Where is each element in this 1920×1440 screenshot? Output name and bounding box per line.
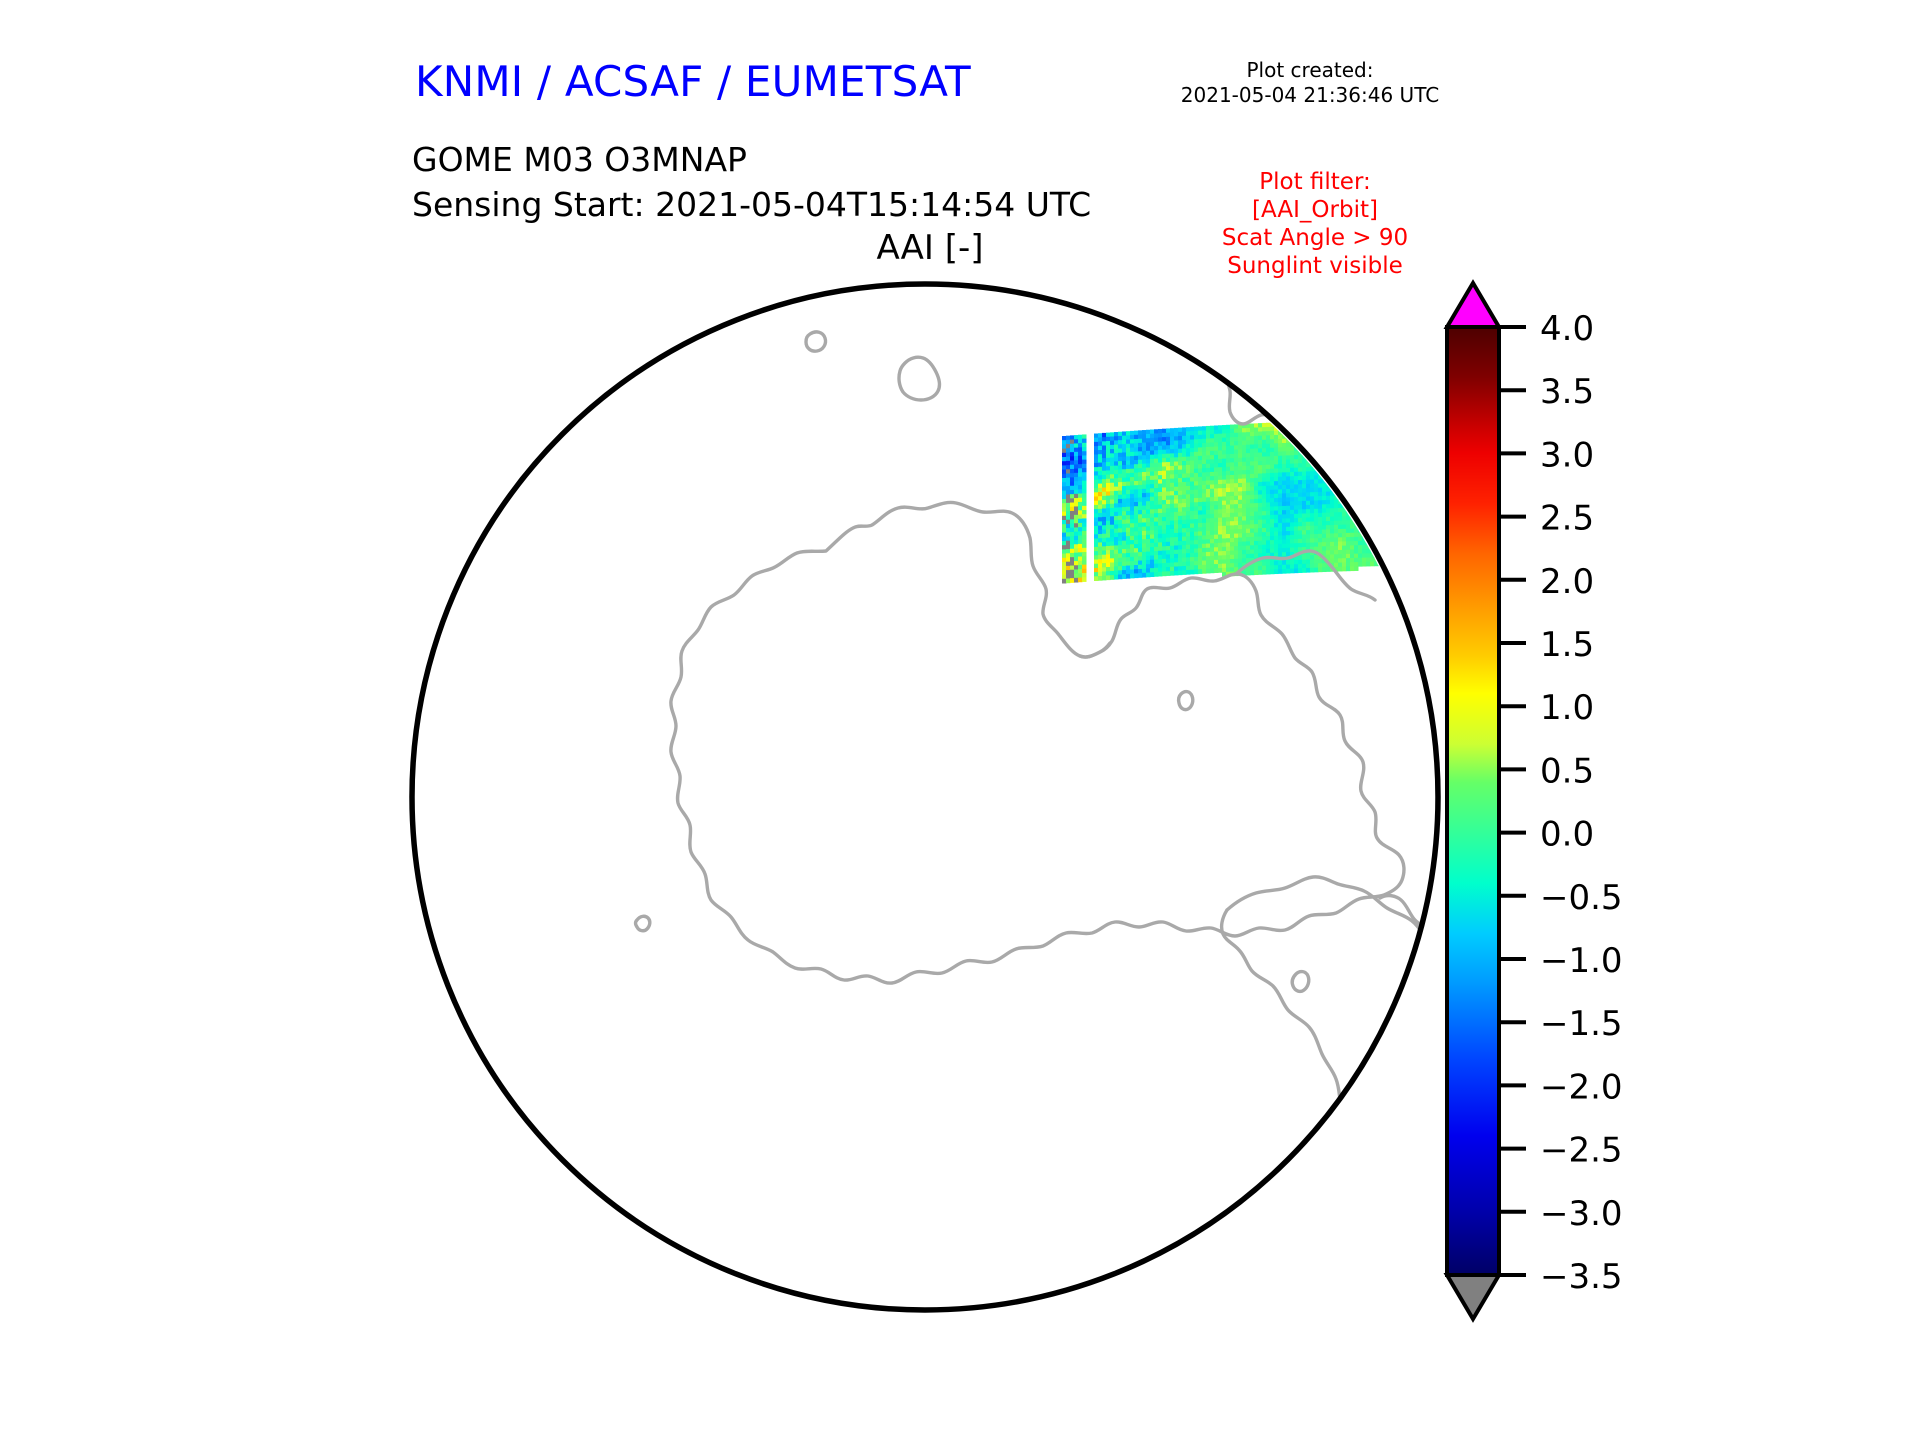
coastlines (636, 275, 1455, 1137)
colorbar-tick-label: −0.5 (1540, 878, 1623, 918)
coastline-new-zealand-south (1224, 299, 1324, 424)
coastline-falklands (1292, 972, 1309, 992)
coastline-island-west (636, 916, 650, 930)
colorbar-tick-label: −1.5 (1540, 1004, 1623, 1044)
coastline-south-america-west (1222, 910, 1353, 1137)
colorbar: 4.03.53.02.52.01.51.00.50.0−0.5−1.0−1.5−… (1440, 275, 1860, 1365)
colorbar-tick-label: 4.0 (1540, 309, 1594, 349)
coastline-new-zealand-north (1305, 275, 1341, 316)
colorbar-gradient-body (1447, 327, 1499, 1275)
colorbar-tick-label: −2.5 (1540, 1131, 1623, 1171)
dataset-info-block: GOME M03 O3MNAP Sensing Start: 2021-05-0… (412, 137, 1091, 227)
coastline-ross-bay (1080, 643, 1110, 657)
coastline-island-alexander (1179, 692, 1193, 710)
colorbar-tick-label: −3.5 (1540, 1257, 1623, 1297)
plot-created-label: Plot created: (1160, 58, 1460, 83)
colorbar-tick-label: 3.5 (1540, 372, 1594, 412)
plot-created-block: Plot created: 2021-05-04 21:36:46 UTC (1160, 58, 1460, 108)
plot-created-timestamp: 2021-05-04 21:36:46 UTC (1160, 83, 1460, 108)
colorbar-tick-label: −3.0 (1540, 1194, 1623, 1234)
sensing-start: Sensing Start: 2021-05-04T15:14:54 UTC (412, 182, 1091, 227)
colorbar-over-arrow (1447, 283, 1499, 327)
dataset-name: GOME M03 O3MNAP (412, 137, 1091, 182)
coastline-tasmania (899, 357, 939, 400)
plot-filter-line-0: [AAI_Orbit] (1160, 196, 1470, 224)
quantity-title: AAI [-] (0, 228, 1860, 268)
colorbar-tick-label: 2.5 (1540, 499, 1594, 539)
plot-filter-title: Plot filter: (1160, 168, 1470, 196)
coastline-antarctica (671, 502, 1404, 983)
plot-filter-line-1: Scat Angle > 90 (1160, 224, 1470, 252)
plot-filter-block: Plot filter: [AAI_Orbit] Scat Angle > 90… (1160, 168, 1470, 280)
colorbar-tick-label: 3.0 (1540, 435, 1594, 475)
colorbar-tick-label: 0.0 (1540, 815, 1594, 855)
colorbar-tick-label: 1.5 (1540, 625, 1594, 665)
colorbar-under-arrow (1447, 1275, 1499, 1319)
aai-data-swath (1062, 418, 1427, 584)
page-title-organisations: KNMI / ACSAF / EUMETSAT (415, 57, 971, 106)
coastline-island-upper-left (806, 332, 826, 351)
polar-map (390, 270, 1460, 1340)
colorbar-tick-label: −1.0 (1540, 941, 1623, 981)
colorbar-tick-label: −2.0 (1540, 1067, 1623, 1107)
coastline-south-america (1227, 877, 1454, 961)
colorbar-ticks: 4.03.53.02.52.01.51.00.50.0−0.5−1.0−1.5−… (1499, 309, 1623, 1297)
colorbar-tick-label: 2.0 (1540, 562, 1594, 602)
colorbar-tick-label: 1.0 (1540, 688, 1594, 728)
colorbar-tick-label: 0.5 (1540, 751, 1594, 791)
